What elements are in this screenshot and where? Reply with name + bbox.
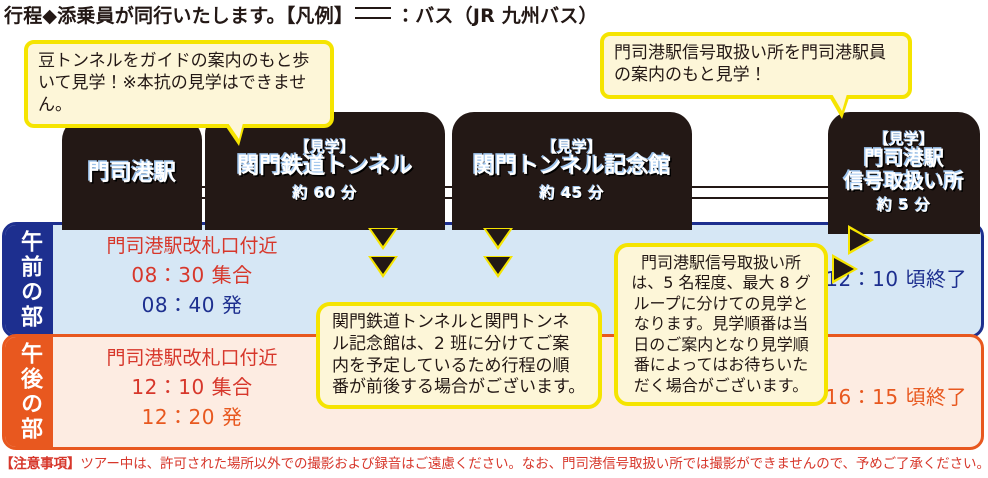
morning-departure-time: 08：40 発 — [67, 289, 317, 318]
callout-right2-text: 門司港駅信号取扱い所は、5 名程度、最大 8 グループに分けての見学となります。… — [628, 253, 814, 396]
stop-1-name: 門司港駅 — [88, 162, 176, 187]
afternoon-end-time: 16：15 頃終了 — [825, 381, 967, 410]
stop-2-name: 関門鉄道トンネル — [237, 155, 413, 180]
stop-box-signal-control-room: 【見学】 門司港駅 信号取扱い所 約 5 分 — [828, 112, 980, 234]
callout-left-text: 豆トンネルをガイドの案内のもと歩いて見学！※本抗の見学はできません。 — [38, 51, 320, 116]
afternoon-departure-time: 12：20 発 — [67, 401, 317, 430]
callout-signal-room: 門司港駅信号取扱い所を門司港駅員の案内のもと見学！ — [600, 32, 912, 99]
callout-mame-tunnel: 豆トンネルをガイドの案内のもと歩いて見学！※本抗の見学はできません。 — [24, 40, 334, 128]
callout-mid-text: 関門鉄道トンネルと関門トンネル記念館は、2 班に分けてご案内を予定しているため行… — [332, 312, 586, 399]
itinerary-diagram: 行程◆添乗員が同行いたします。【凡例】 ：バス（JR 九州バス） 午前の部 門司… — [0, 0, 988, 478]
callout-right-text: 門司港駅信号取扱い所を門司港駅員の案内のもと見学！ — [614, 43, 898, 87]
morning-tab: 午前の部 — [5, 225, 53, 335]
bus-connector-3 — [686, 186, 834, 199]
afternoon-departure-info: 門司港駅改札口付近 12：10 集合 12：20 発 — [67, 343, 317, 430]
stop-4-name: 門司港駅 — [864, 147, 944, 169]
bus-line-legend-icon — [355, 7, 391, 19]
callout-signal-room-groups: 門司港駅信号取扱い所は、5 名程度、最大 8 グループに分けての見学となります。… — [614, 243, 828, 406]
afternoon-meeting-time: 12：10 集合 — [67, 371, 317, 400]
stop-2-tag: 【見学】 — [295, 139, 355, 156]
morning-tab-label: 午前の部 — [18, 230, 40, 330]
callout-group-split-note: 関門鉄道トンネルと関門トンネル記念館は、2 班に分けてご案内を予定しているため行… — [316, 302, 602, 409]
morning-departure-info: 門司港駅改札口付近 08：30 集合 08：40 発 — [67, 231, 317, 318]
stop-3-duration: 約 45 分 — [540, 182, 604, 203]
stop-3-tag: 【見学】 — [542, 139, 602, 156]
footnote: 【注意事項】ツアー中は、許可された場所以外での撮影および録音はご遠慮ください。な… — [0, 452, 988, 472]
afternoon-meeting-place: 門司港駅改札口付近 — [67, 343, 317, 370]
header-title: 行程◆添乗員が同行いたします。【凡例】 — [4, 1, 353, 28]
afternoon-tab: 午後の部 — [5, 337, 53, 447]
callout-left-tail-icon — [224, 124, 245, 146]
stop-box-mojiko-station: 門司港駅 — [62, 118, 202, 230]
stop-2-duration: 約 60 分 — [293, 182, 357, 203]
footnote-text: ツアー中は、許可された場所以外での撮影および録音はご遠慮ください。なお、門司港信… — [80, 456, 988, 472]
stop-4-tag: 【見学】 — [874, 131, 934, 148]
stop-4-name-line2: 信号取扱い所 — [844, 170, 964, 192]
stop-box-kanmon-tunnel-museum: 【見学】 関門トンネル記念館 約 45 分 — [452, 112, 692, 230]
header: 行程◆添乗員が同行いたします。【凡例】 ：バス（JR 九州バス） — [4, 1, 598, 28]
morning-meeting-time: 08：30 集合 — [67, 259, 317, 288]
afternoon-tab-label: 午後の部 — [18, 342, 40, 442]
footnote-label: 【注意事項】 — [0, 456, 80, 472]
callout-right-tail-icon — [828, 95, 850, 119]
legend-label: ：バス（JR 九州バス） — [396, 1, 598, 28]
stop-3-name: 関門トンネル記念館 — [473, 155, 671, 180]
morning-meeting-place: 門司港駅改札口付近 — [67, 231, 317, 258]
stop-4-duration: 約 5 分 — [877, 194, 930, 215]
